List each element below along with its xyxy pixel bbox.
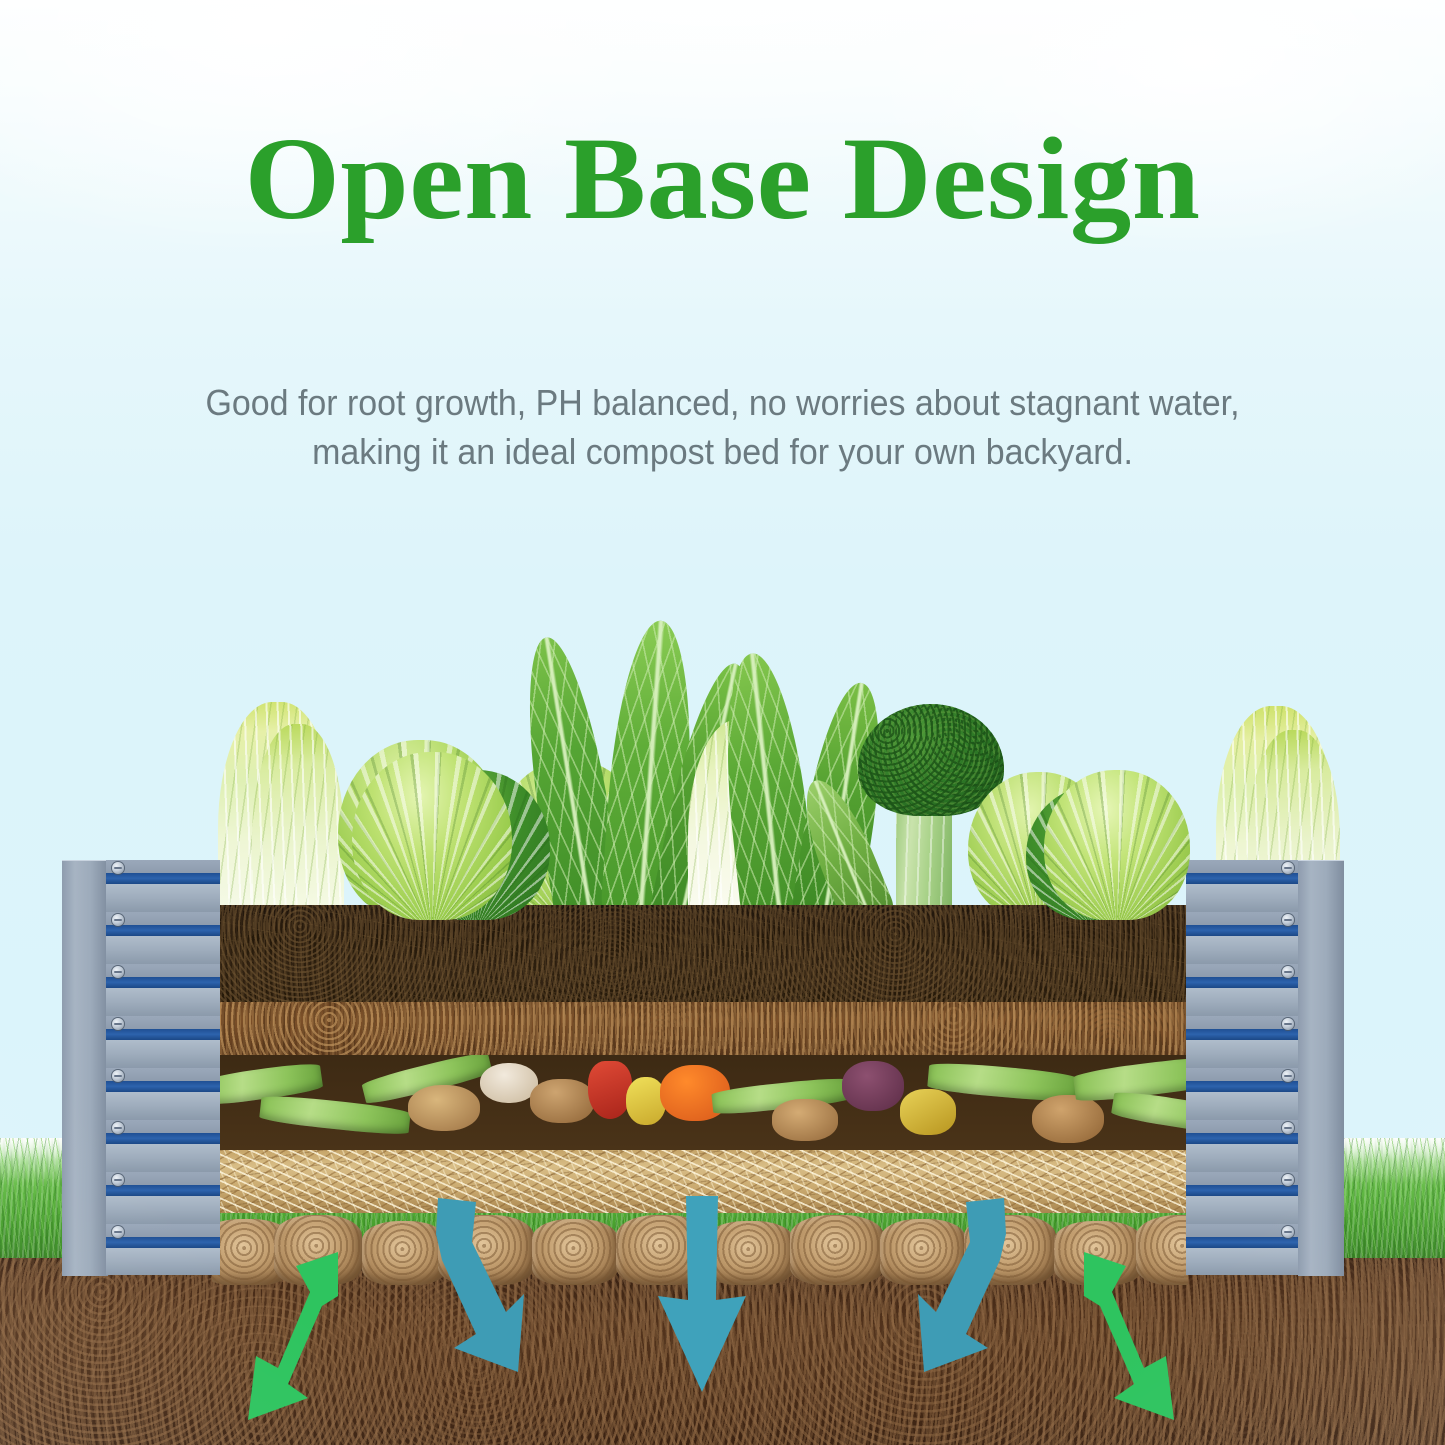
drainage-arrow-down-center bbox=[648, 1196, 758, 1408]
subtitle-line-1: Good for root growth, PH balanced, no wo… bbox=[205, 382, 1239, 423]
layer-topsoil bbox=[212, 905, 1188, 1002]
napa-cabbage-inner bbox=[252, 724, 344, 920]
infographic-canvas: Open Base Design Good for root growth, P… bbox=[0, 0, 1445, 1445]
airflow-arrow-up-left bbox=[232, 1248, 352, 1424]
left-corner-post bbox=[62, 860, 108, 1276]
subtitle-line-2: making it an ideal compost bed for your … bbox=[97, 427, 1348, 476]
cabbage-right-2 bbox=[1044, 770, 1190, 920]
right-side-panel bbox=[1186, 860, 1344, 1275]
green-cabbage-front bbox=[352, 752, 512, 920]
page-title: Open Base Design bbox=[0, 118, 1445, 241]
airflow-arrow-up-right bbox=[1068, 1248, 1188, 1424]
layer-compost bbox=[212, 1002, 1188, 1055]
drainage-arrow-down-left bbox=[414, 1198, 534, 1394]
layer-kitchen-scraps bbox=[212, 1055, 1188, 1150]
broccoli-head bbox=[858, 704, 1004, 816]
right-corner-post bbox=[1298, 860, 1344, 1276]
right-panel-slats bbox=[1186, 860, 1300, 1275]
left-side-panel bbox=[62, 860, 220, 1275]
drainage-arrow-down-right bbox=[908, 1198, 1028, 1394]
left-panel-slats bbox=[106, 860, 220, 1275]
page-subtitle: Good for root growth, PH balanced, no wo… bbox=[97, 378, 1348, 476]
